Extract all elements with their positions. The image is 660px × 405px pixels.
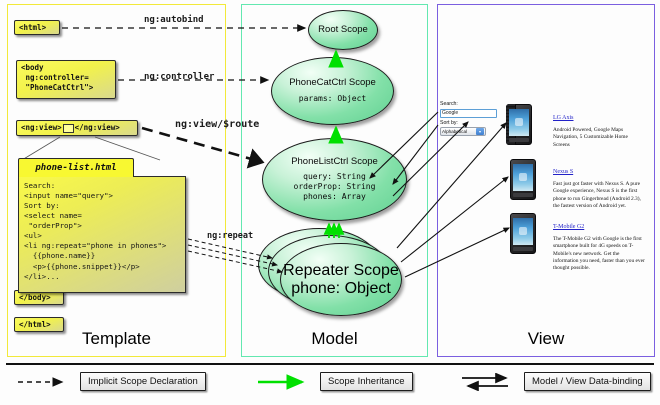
scope-repeater-stack: Repeater Scope phone: Object [258,228,406,318]
callout-title: phone-list.html [18,158,134,177]
phone-bottom-bar [513,193,533,197]
connector-label-ng-view-route: ng:view/$route [175,119,259,130]
scope-phonelistctrl: PhoneListCtrl Scope query: String orderP… [262,138,407,221]
scope-phonelistctrl-name: PhoneListCtrl Scope [291,157,378,168]
code-tag-body-open-text: <body ng:controller= "PhoneCatCtrl"> [21,63,93,92]
code-tag-ngview: <ng:view></ng:view> [16,120,138,136]
phone-snippet-nexus-s: Fast just got faster with Nexus S. A pur… [553,181,645,210]
phone-link-lg-axis[interactable]: LG Axis [553,115,574,122]
legend-divider [6,363,654,365]
code-tag-body-open: <body ng:controller= "PhoneCatCtrl"> [16,60,116,99]
phone-link-t-mobile-g2[interactable]: T-Mobile G2 [553,224,584,231]
connector-label-ng-controller: ng:controller [144,72,214,82]
search-label: Search: [440,101,498,108]
legend-label-implicit-scope-declaration: Implicit Scope Declaration [80,372,206,391]
legend-label-scope-inheritance: Scope Inheritance [320,372,413,391]
column-label-view: View [437,329,655,349]
template-callout-phone-list: phone-list.html Search: <input name="que… [18,158,186,293]
phone-image-t-mobile-g2 [510,213,536,254]
scope-phonecatctrl-name: PhoneCatCtrl Scope [289,78,376,89]
chevron-updown-icon: ▾ [476,128,484,135]
phone-image-nexus-s [510,159,536,200]
phone-screen [513,164,533,191]
green-arrow-icon [256,373,312,391]
legend-item-implicit-scope-declaration: Implicit Scope Declaration [16,372,206,391]
phone-image-lg-axis [506,104,532,145]
scope-repeater-front: Repeater Scope phone: Object [280,243,402,316]
scope-phonecatctrl: PhoneCatCtrl Scope params: Object [271,57,394,125]
phone-screen [509,109,529,136]
column-label-template: Template [7,329,226,349]
phone-snippet-lg-axis: Android Powered, Google Maps Navigation,… [553,127,645,149]
phone-info-1: Nexus S Fast just got faster with Nexus … [553,160,645,210]
code-tag-ngview-open-text: <ng:view> [21,123,62,133]
sort-select[interactable]: Alphabetical ▾ [440,127,486,136]
code-tag-html-open: <html> [14,20,60,35]
scope-root-name: Root Scope [318,25,368,36]
legend: Implicit Scope Declaration Scope Inherit… [0,370,660,400]
legend-item-model-view-data-binding: Model / View Data-binding [460,372,651,391]
ngview-placeholder-slot [63,124,74,133]
sort-select-value: Alphabetical [442,129,467,134]
code-tag-html-open-text: <html> [19,23,46,33]
code-tag-html-close-text: </html> [19,320,51,330]
connector-label-ng-autobind: ng:autobind [144,15,204,25]
scope-phonelistctrl-props: query: String orderProp: String phones: … [294,172,376,202]
phone-bottom-bar [509,138,529,142]
search-input[interactable] [440,109,497,118]
sort-label: Sort by: [440,120,498,127]
scope-root: Root Scope [308,10,378,50]
scope-phonecatctrl-props: params: Object [299,94,366,104]
legend-item-scope-inheritance: Scope Inheritance [256,372,413,391]
phone-bottom-bar [513,247,533,251]
phone-info-0: LG Axis Android Powered, Google Maps Nav… [553,106,645,149]
code-tag-body-close-text: </body> [19,293,51,303]
view-search-widget: Search: Sort by: Alphabetical ▾ [440,101,498,136]
scope-repeater-props: phone: Object [291,280,391,298]
dashed-arrow-icon [16,373,72,391]
phone-screen [513,218,533,245]
scope-repeater-name: Repeater Scope [283,262,399,280]
column-label-model: Model [241,329,428,349]
diagram-canvas: <html> <body ng:controller= "PhoneCatCtr… [0,0,660,405]
code-tag-ngview-close-text: </ng:view> [75,123,120,133]
callout-code: Search: <input name="query"> Sort by: <s… [18,176,186,293]
phone-link-nexus-s[interactable]: Nexus S [553,169,573,176]
double-arrow-icon [460,373,516,391]
phone-info-2: T-Mobile G2 The T-Mobile G2 with Google … [553,215,645,272]
legend-label-model-view-data-binding: Model / View Data-binding [524,372,651,391]
connector-label-ng-repeat: ng:repeat [207,231,253,241]
phone-snippet-t-mobile-g2: The T-Mobile G2 with Google is the first… [553,236,645,272]
